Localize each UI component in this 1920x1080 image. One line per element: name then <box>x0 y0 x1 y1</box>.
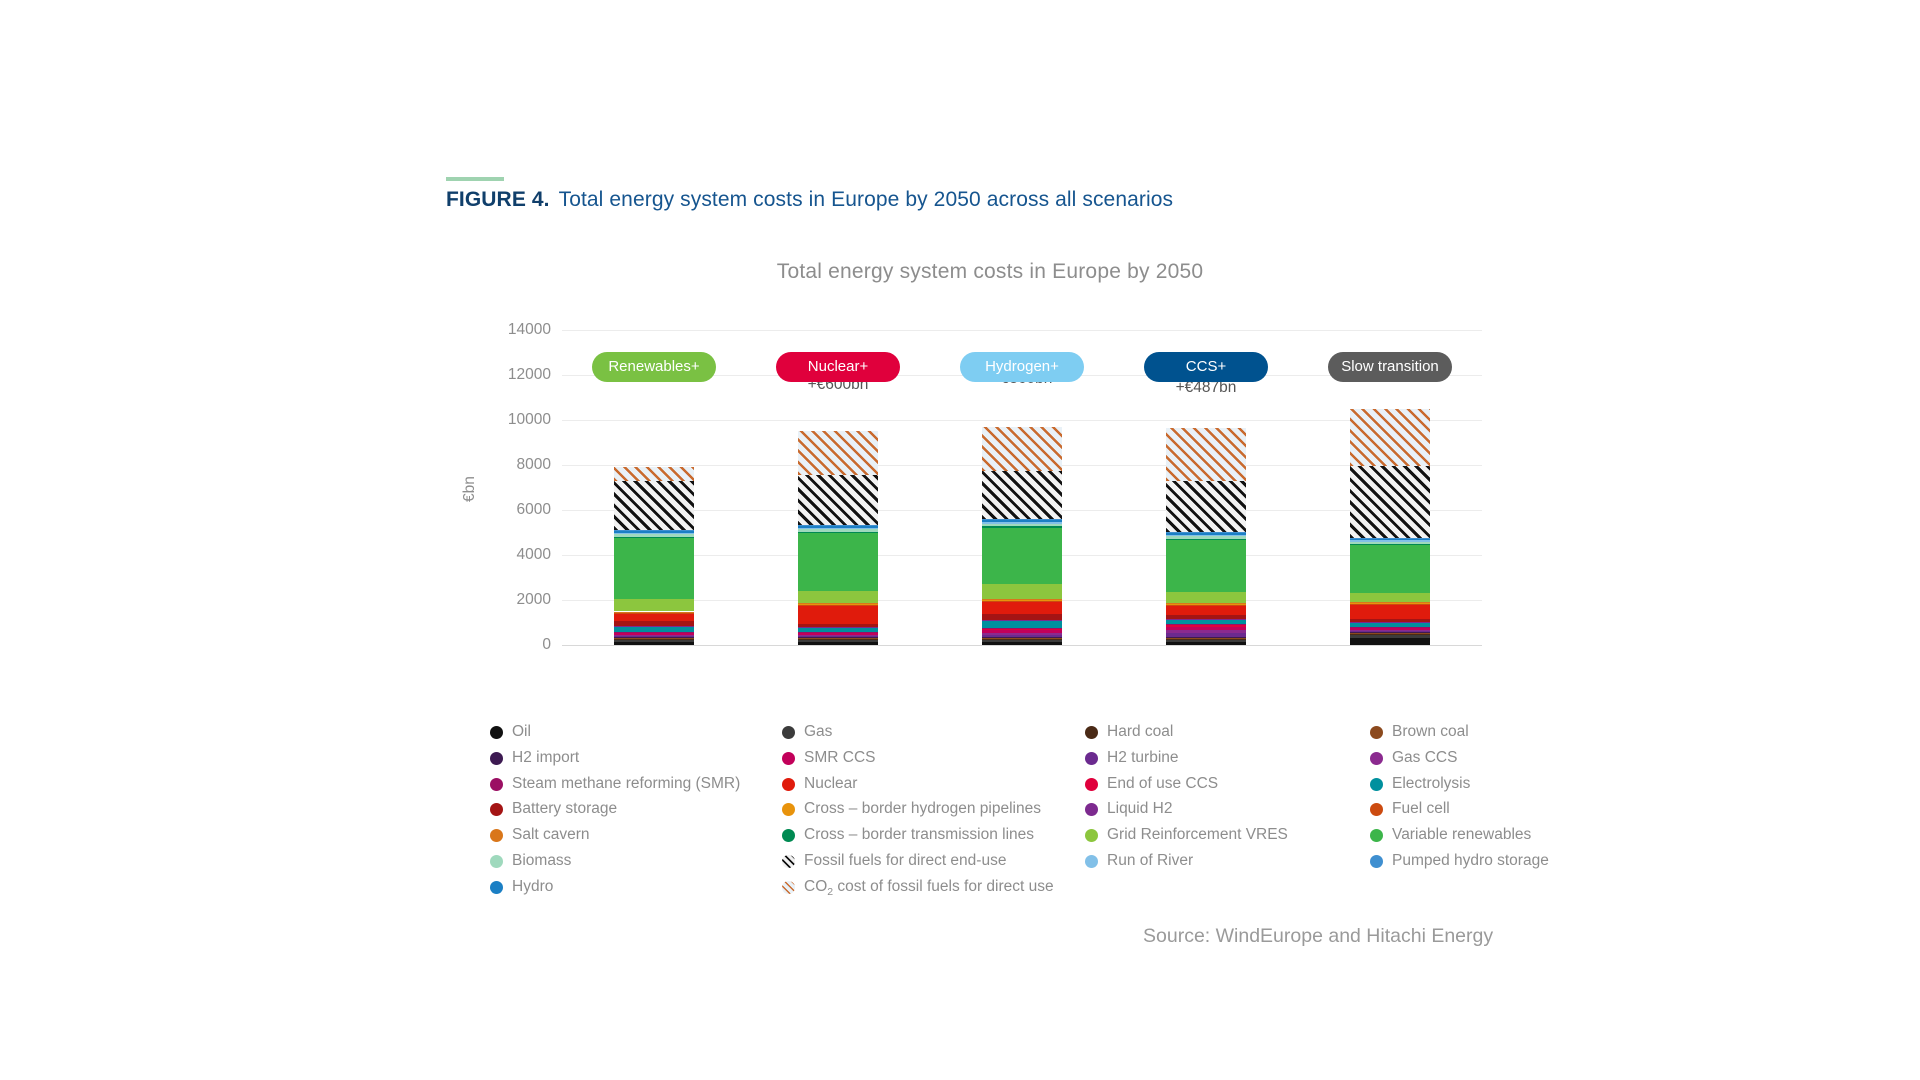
bar-segment <box>798 605 878 624</box>
bar-segment <box>1350 544 1430 545</box>
bar-segment <box>614 534 694 536</box>
bar-segment <box>798 633 878 635</box>
bar-segment <box>1350 634 1430 635</box>
bar-segment <box>982 602 1062 615</box>
bar-segment <box>982 427 1062 471</box>
bar-segment <box>982 629 1062 630</box>
scenario-pill-nuclear[interactable]: Nuclear+ <box>776 352 900 382</box>
stacked-bar[interactable] <box>1166 409 1246 645</box>
legend-label: Hard coal <box>1107 722 1173 741</box>
legend-label: Steam methane reforming (SMR) <box>512 774 740 793</box>
bar-segment <box>798 639 878 640</box>
bar-segment <box>798 525 878 526</box>
legend-label: Gas <box>804 722 832 741</box>
legend-label: End of use CCS <box>1107 774 1218 793</box>
bar-group: +€860bnHydrogen+ <box>982 330 1062 645</box>
bar-segment <box>1350 538 1430 539</box>
bar-segment <box>1166 533 1246 535</box>
legend-label: Cross – border transmission lines <box>804 825 1034 844</box>
bar-segment <box>614 639 694 641</box>
legend-swatch-icon <box>490 855 503 868</box>
bar-segment <box>1166 624 1246 625</box>
y-tick-label: 10000 <box>508 411 551 429</box>
bar-segment <box>798 528 878 529</box>
bar-segment <box>614 639 694 640</box>
bar-group: +€487bnCCS+ <box>1166 330 1246 645</box>
bar-segment <box>1166 540 1246 592</box>
bar-segment <box>614 530 694 531</box>
bar-segment <box>1350 538 1430 540</box>
bar-segment <box>982 621 1062 628</box>
bar-segment <box>614 637 694 638</box>
legend-label: Fuel cell <box>1392 799 1450 818</box>
bar-segment <box>614 613 694 620</box>
bar-segment <box>614 636 694 637</box>
legend-swatch-icon <box>490 752 503 765</box>
bar-segment <box>982 628 1062 629</box>
legend-label: Liquid H2 <box>1107 799 1173 818</box>
scenario-pill-renewables[interactable]: Renewables+ <box>592 352 716 382</box>
bar-segment <box>982 524 1062 526</box>
bar-segment <box>982 471 1062 519</box>
bar-segment <box>1166 536 1246 538</box>
bar-group: +€1637bnSlow transition <box>1350 330 1430 645</box>
y-tick-label: 0 <box>542 636 551 654</box>
bar-segment <box>798 604 878 605</box>
legend-label: Gas CCS <box>1392 748 1457 767</box>
bar-segment <box>614 612 694 613</box>
bar-segment <box>1350 627 1430 628</box>
bar-segment <box>614 635 694 636</box>
bar-segment <box>614 537 694 539</box>
plot-area: €bn 02000400060008000100001200014000 Ren… <box>562 330 1482 645</box>
bar-segment <box>614 531 694 533</box>
bar-segment <box>1166 615 1246 619</box>
legend-label: Oil <box>512 722 531 741</box>
bar-segment <box>1350 542 1430 544</box>
legend-swatch-icon <box>782 829 795 842</box>
bar-segment <box>1166 535 1246 536</box>
bar-segment <box>798 431 878 475</box>
legend-swatch-icon <box>782 778 795 791</box>
legend-swatch-icon <box>782 855 795 868</box>
bar-segment <box>982 633 1062 635</box>
bar-segment <box>798 533 878 591</box>
bar-segment <box>614 632 694 633</box>
bar-segment <box>1166 592 1246 603</box>
bar-segment <box>982 522 1062 523</box>
y-tick-label: 14000 <box>508 321 551 339</box>
legend-swatch-icon <box>1085 778 1098 791</box>
legend-swatch-icon <box>1370 726 1383 739</box>
legend-swatch-icon <box>1085 803 1098 816</box>
bar-segment <box>798 624 878 626</box>
legend-label: CO2 cost of fossil fuels for direct use <box>804 877 1054 902</box>
bar-segment <box>798 642 878 645</box>
y-tick-label: 12000 <box>508 366 551 384</box>
bar-segment <box>614 481 694 531</box>
axis-baseline <box>562 645 1482 646</box>
bar-segment <box>982 599 1062 600</box>
bar-segment <box>798 475 878 525</box>
chart-container: Total energy system costs in Europe by 2… <box>440 240 1540 720</box>
bar-segment <box>1166 605 1246 614</box>
bar-segment <box>1166 637 1246 638</box>
bar-segment <box>614 632 694 633</box>
bar-segment <box>1350 603 1430 604</box>
bar-segment <box>1166 630 1246 633</box>
bar-segment <box>798 529 878 531</box>
legend-label: Battery storage <box>512 799 617 818</box>
bar-segment <box>798 636 878 637</box>
bar-segment <box>982 639 1062 641</box>
stacked-bar[interactable] <box>614 420 694 645</box>
legend-label: Cross – border hydrogen pipelines <box>804 799 1041 818</box>
legend-swatch-icon <box>1370 803 1383 816</box>
bar-segment <box>798 638 878 639</box>
bar-segment <box>1166 532 1246 533</box>
bar-segment <box>982 614 1062 620</box>
bar-segment <box>798 627 878 632</box>
figure-caption-text: Total energy system costs in Europe by 2… <box>559 188 1174 211</box>
bar-segment <box>982 528 1062 585</box>
bar-segment <box>1350 630 1430 631</box>
bar-segment <box>798 639 878 641</box>
bar-segment <box>1350 638 1430 645</box>
bar-segment <box>1166 642 1246 645</box>
bar-segment <box>798 637 878 638</box>
bar-segment <box>1350 635 1430 638</box>
figure-number: FIGURE 4. <box>446 188 550 211</box>
bar-segment <box>614 621 694 626</box>
bar-segment <box>614 642 694 645</box>
bar-segment <box>1166 639 1246 640</box>
bar-segment <box>1166 638 1246 639</box>
bar-segment <box>982 630 1062 632</box>
bar-segment <box>614 626 694 631</box>
bar-segment <box>1350 409 1430 466</box>
bar-segment <box>1350 627 1430 628</box>
bar-segment <box>982 638 1062 639</box>
legend-swatch-icon <box>782 803 795 816</box>
legend-swatch-icon <box>1085 726 1098 739</box>
legend-label: Grid Reinforcement VRES <box>1107 825 1288 844</box>
bar-segment <box>614 538 694 598</box>
bar-segment <box>1350 619 1430 622</box>
figure-page: FIGURE 4.Total energy system costs in Eu… <box>0 0 1920 1080</box>
source-note: Source: WindEurope and Hitachi Energy <box>1143 925 1493 948</box>
legend-swatch-icon <box>1370 778 1383 791</box>
legend-swatch-icon <box>490 726 503 739</box>
legend-swatch-icon <box>782 726 795 739</box>
bar-segment <box>1166 603 1246 605</box>
bar-segment <box>614 599 694 612</box>
legend-swatch-icon <box>1370 752 1383 765</box>
scenario-pill-slow-transition[interactable]: Slow transition <box>1328 352 1452 382</box>
legend-label: Variable renewables <box>1392 825 1531 844</box>
bar-segment <box>982 639 1062 640</box>
bar-segment <box>1166 627 1246 631</box>
legend-label: Run of River <box>1107 851 1193 870</box>
bar-segment <box>982 526 1062 528</box>
bar-segment <box>798 532 878 534</box>
bar-segment <box>1166 481 1246 533</box>
stacked-bar[interactable] <box>982 400 1062 645</box>
bar-segment <box>614 633 694 635</box>
legend-swatch-icon <box>782 752 795 765</box>
legend-label: Salt cavern <box>512 825 590 844</box>
bar-segment <box>798 526 878 528</box>
y-axis-label: €bn <box>461 476 479 502</box>
bar-segment <box>1166 625 1246 626</box>
bar-segment <box>614 638 694 639</box>
legend-swatch-icon <box>490 881 503 894</box>
chart-title: Total energy system costs in Europe by 2… <box>440 260 1540 284</box>
scenario-pill-ccs[interactable]: CCS+ <box>1144 352 1268 382</box>
bar-segment <box>1166 603 1246 604</box>
figure-caption: FIGURE 4.Total energy system costs in Eu… <box>446 188 1173 212</box>
legend-swatch-icon <box>1085 829 1098 842</box>
y-tick-label: 8000 <box>517 456 551 474</box>
legend-swatch-icon <box>490 829 503 842</box>
bar-segment <box>1166 619 1246 624</box>
legend-label: Brown coal <box>1392 722 1469 741</box>
legend-swatch-icon <box>782 881 795 894</box>
legend-label: H2 turbine <box>1107 748 1179 767</box>
bar-segment <box>1350 466 1430 537</box>
scenario-pill-hydrogen[interactable]: Hydrogen+ <box>960 352 1084 382</box>
bar-segment <box>1350 604 1430 619</box>
legend-swatch-icon <box>1085 752 1098 765</box>
bar-segment <box>1166 639 1246 641</box>
bar-segment <box>982 519 1062 520</box>
legend-label: Electrolysis <box>1392 774 1470 793</box>
legend-swatch-icon <box>490 803 503 816</box>
legend-swatch-icon <box>1370 829 1383 842</box>
bar-segment <box>614 467 694 481</box>
bar-segment <box>982 620 1062 621</box>
legend-label: Hydro <box>512 877 553 896</box>
bar-group: Renewables+ <box>614 330 694 645</box>
figure-accent-rule <box>446 177 504 181</box>
bar-segment <box>1166 428 1246 480</box>
bar-segment <box>982 520 1062 522</box>
bar-segment <box>1166 539 1246 540</box>
legend-label: Pumped hydro storage <box>1392 851 1549 870</box>
legend-label: Fossil fuels for direct end-use <box>804 851 1006 870</box>
bar-segment <box>1350 593 1430 602</box>
y-tick-label: 2000 <box>517 591 551 609</box>
legend-label: Nuclear <box>804 774 857 793</box>
bar-segment <box>982 637 1062 638</box>
legend-swatch-icon <box>490 778 503 791</box>
bar-segment <box>1350 623 1430 627</box>
bar-segment <box>1350 628 1430 630</box>
bar-segment <box>798 591 878 603</box>
legend-swatch-icon <box>1085 855 1098 868</box>
bar-segment <box>1166 633 1246 637</box>
bar-segment <box>1350 632 1430 633</box>
bar-segment <box>982 584 1062 598</box>
bar-segment <box>982 642 1062 645</box>
legend-label: Biomass <box>512 851 571 870</box>
bar-segment <box>1350 633 1430 634</box>
legend-label: H2 import <box>512 748 579 767</box>
bar-segment <box>982 600 1062 602</box>
bar-segment <box>1350 631 1430 632</box>
y-tick-label: 4000 <box>517 546 551 564</box>
bar-segment <box>798 632 878 633</box>
y-tick-label: 6000 <box>517 501 551 519</box>
bar-segment <box>798 635 878 636</box>
stacked-bar[interactable] <box>798 406 878 645</box>
bar-segment <box>798 632 878 633</box>
legend-swatch-icon <box>1370 855 1383 868</box>
bar-segment <box>1350 540 1430 541</box>
bar-group: +€600bnNuclear+ <box>798 330 878 645</box>
stacked-bar[interactable] <box>1350 383 1430 645</box>
legend-label: SMR CCS <box>804 748 875 767</box>
bar-segment <box>982 635 1062 637</box>
bar-segment <box>1350 545 1430 593</box>
bar-segment <box>614 533 694 534</box>
